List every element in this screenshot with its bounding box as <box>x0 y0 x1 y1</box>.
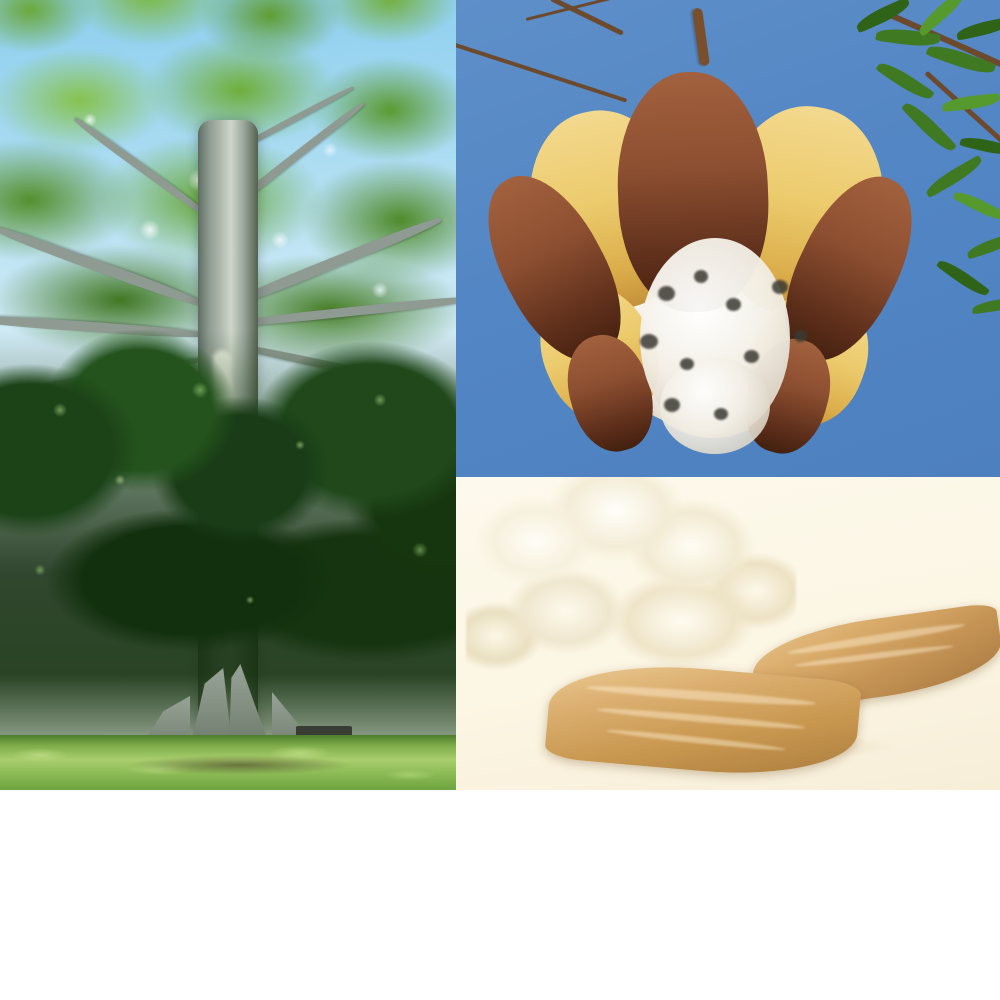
kapok-seed-pod <box>508 58 898 448</box>
kapok-seed <box>726 298 741 311</box>
photo-collage <box>0 0 1000 790</box>
kapok-seed <box>694 270 708 283</box>
leaf <box>952 188 1000 225</box>
kapok-fibre-cloud <box>466 477 796 701</box>
leaf <box>936 256 990 300</box>
infographic-page: Kapok is a natural, cotton-like non-toxi… <box>0 0 1000 1000</box>
leaf <box>971 297 1000 315</box>
tree-ground-shadow <box>90 752 390 778</box>
leaf <box>955 16 1000 40</box>
kapok-seed <box>640 334 658 349</box>
kapok-seed <box>680 358 694 370</box>
kapok-seed <box>664 398 680 412</box>
kapok-fiber-and-pods-photo <box>456 477 1000 790</box>
leaf <box>965 233 1000 260</box>
kapok-seed <box>658 286 675 301</box>
kapok-tree-photo <box>0 0 456 790</box>
open-kapok-pod-photo <box>456 0 1000 477</box>
kapok-seed <box>714 408 728 420</box>
kapok-seed <box>794 330 807 342</box>
kapok-seed <box>744 350 759 363</box>
caption-block: Kapok is a natural, cotton-like non-toxi… <box>0 790 1000 1000</box>
kapok-seed <box>772 280 788 294</box>
leaf <box>923 155 985 198</box>
